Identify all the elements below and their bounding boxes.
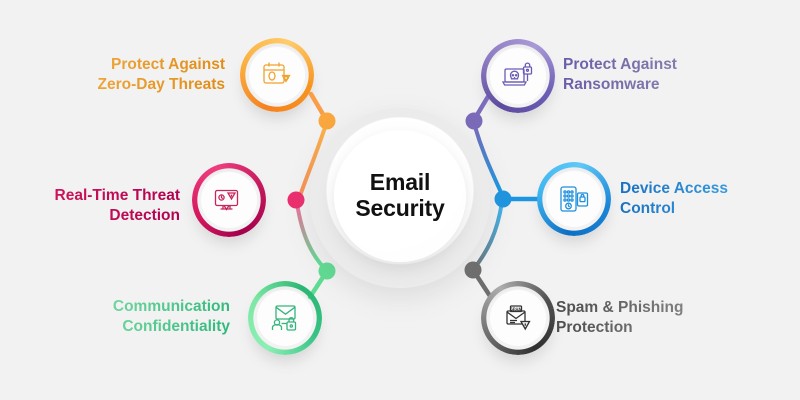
monitor-alert-icon <box>212 183 246 217</box>
connector-dot-ransomware <box>466 113 483 130</box>
keypad-card-access-icon <box>557 182 591 216</box>
node-zero-day[interactable] <box>240 38 314 112</box>
node-icon-disc <box>201 172 257 228</box>
calendar-zero-day-icon <box>260 58 294 92</box>
connector-dot-zero-day <box>319 113 336 130</box>
node-label-real-time-threat: Real-Time Threat Detection <box>10 186 180 226</box>
connector-dot-device-access <box>495 191 512 208</box>
node-spam-phishing[interactable]: SPAM <box>481 281 555 355</box>
node-label-spam-phishing: Spam & Phishing Protection <box>556 298 746 338</box>
node-icon-disc <box>249 47 305 103</box>
node-icon-disc: SPAM <box>490 290 546 346</box>
node-ransomware[interactable] <box>481 39 555 113</box>
node-label-device-access-control: Device Access Control <box>620 179 795 219</box>
node-label-communication-confidentiality: Communication Confidentiality <box>55 297 230 337</box>
svg-text:SPAM: SPAM <box>510 306 523 311</box>
spam-envelope-warning-icon: SPAM <box>501 301 535 335</box>
node-device-access-control[interactable] <box>537 162 611 236</box>
center-hub: Email Security <box>334 130 466 262</box>
envelope-lock-person-icon <box>268 301 302 335</box>
page-title: Email Security <box>355 170 444 222</box>
laptop-skull-lock-icon <box>501 59 535 93</box>
node-label-ransomware: Protect Against Ransomware <box>563 55 778 95</box>
connector-dot-real-time <box>288 192 305 209</box>
connector-dot-communication <box>319 263 336 280</box>
node-icon-disc <box>490 48 546 104</box>
node-icon-disc <box>257 290 313 346</box>
connector-dot-spam <box>465 262 482 279</box>
node-real-time-threat[interactable] <box>192 163 266 237</box>
node-label-zero-day: Protect Against Zero-Day Threats <box>30 55 225 95</box>
email-security-diagram: Email Security Protect Against Zero-Day … <box>0 0 800 400</box>
node-communication-confidentiality[interactable] <box>248 281 322 355</box>
node-icon-disc <box>546 171 602 227</box>
